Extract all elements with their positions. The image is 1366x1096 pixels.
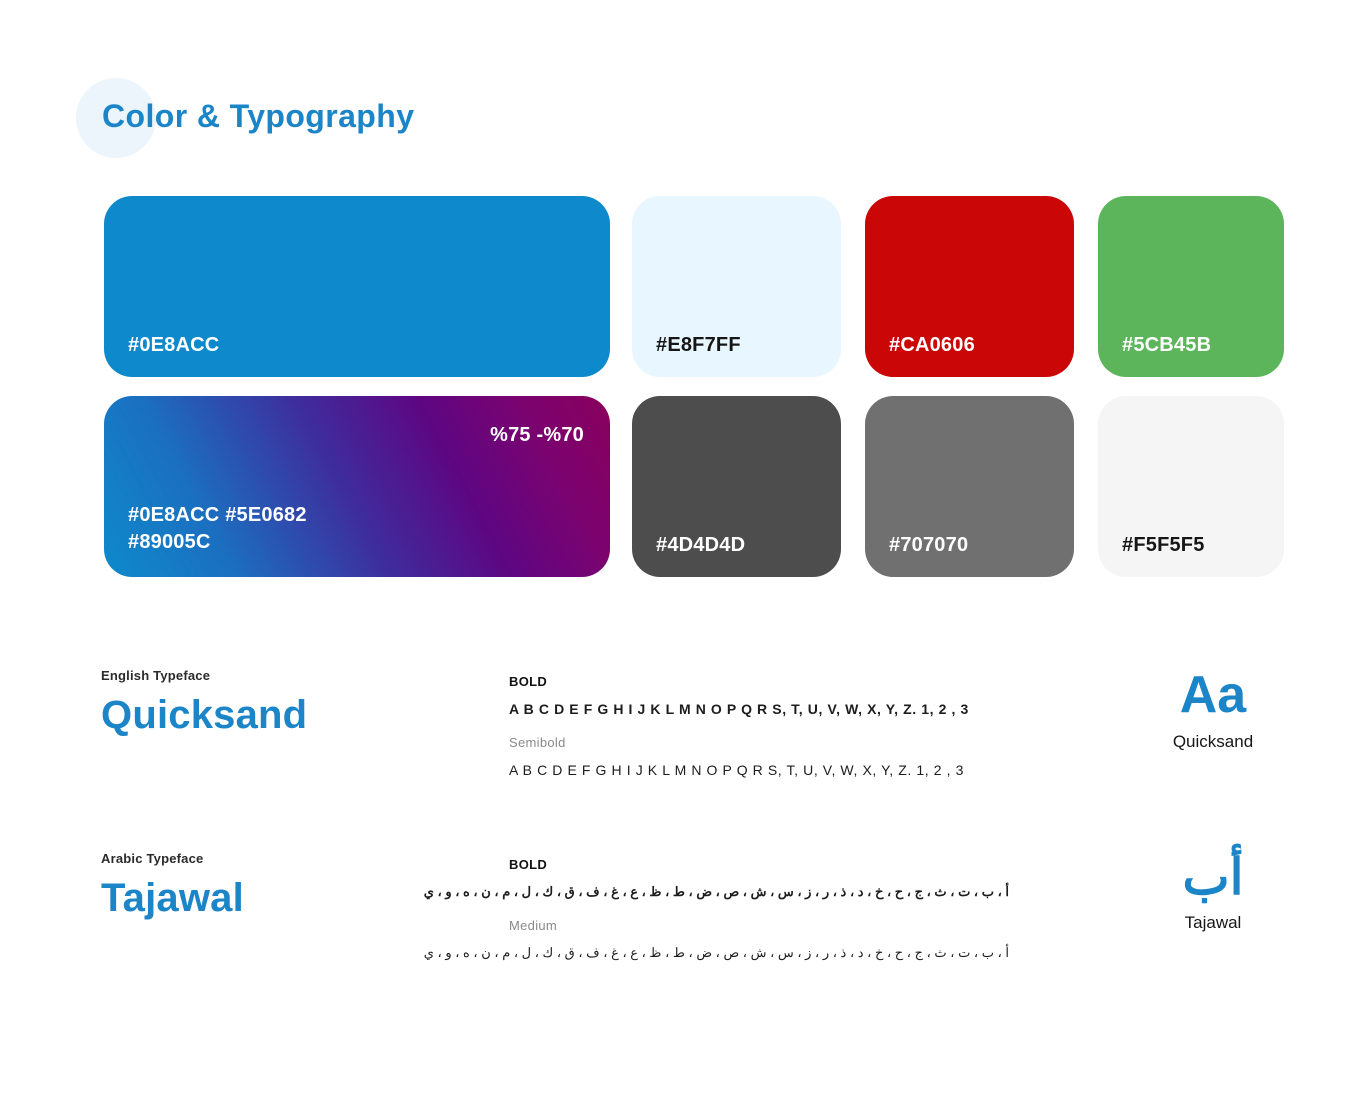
typeface-specimen-arabic: BOLD أ ، ب ، ت ، ث ، ج ، ح ، خ ، د ، ذ ،… — [509, 857, 1069, 979]
weight-label-medium-arabic: Medium — [509, 918, 1069, 933]
page-header: Color & Typography — [76, 78, 676, 164]
gradient-percent-label: %75 -%70 — [490, 424, 584, 447]
typeface-sample-glyph-english: Aa — [1160, 668, 1266, 723]
color-swatch-label: #E8F7FF — [656, 334, 741, 357]
color-swatch-label: #5CB45B — [1122, 334, 1211, 357]
weight-label-bold-english: BOLD — [509, 674, 1069, 689]
glyph-line-semibold-english: A B C D E F G H I J K L M N O P Q R S, T… — [509, 762, 1069, 778]
page-title: Color & Typography — [102, 98, 414, 135]
color-swatch-pale-blue[interactable]: #E8F7FF — [632, 196, 841, 377]
color-swatch-light-gray[interactable]: #F5F5F5 — [1098, 396, 1284, 577]
color-swatch-primary-blue[interactable]: #0E8ACC — [104, 196, 610, 377]
color-palette: #0E8ACC #E8F7FF #CA0606 #5CB45B %75 -%70… — [104, 196, 1284, 596]
typeface-name-english: Quicksand — [101, 693, 481, 737]
palette-row-primary: #0E8ACC #E8F7FF #CA0606 #5CB45B — [104, 196, 1284, 377]
glyph-line-medium-arabic: أ ، ب ، ت ، ث ، ج ، ح ، خ ، د ، ذ ، ر ، … — [509, 945, 1009, 961]
glyph-line-bold-english: A B C D E F G H I J K L M N O P Q R S, T… — [509, 701, 1069, 717]
weight-label-semibold-english: Semibold — [509, 735, 1069, 750]
palette-row-secondary: %75 -%70 #0E8ACC #5E0682 #89005C #4D4D4D… — [104, 396, 1284, 577]
color-swatch-label: #CA0606 — [889, 334, 975, 357]
color-swatch-label: #0E8ACC #5E0682 #89005C — [128, 502, 307, 557]
typeface-kicker-arabic: Arabic Typeface — [101, 851, 481, 866]
color-swatch-label: #4D4D4D — [656, 534, 745, 557]
typeface-name-column-english: English Typeface Quicksand — [101, 668, 481, 737]
color-swatch-alert-red[interactable]: #CA0606 — [865, 196, 1074, 377]
color-swatch-label: #707070 — [889, 534, 968, 557]
typeface-sample-column-english: Aa Quicksand — [1160, 668, 1266, 754]
typeface-sample-caption-english: Quicksand — [1160, 731, 1266, 754]
typeface-sample-caption-arabic: Tajawal — [1160, 912, 1266, 935]
weight-label-bold-arabic: BOLD — [509, 857, 1069, 872]
color-swatch-label: #0E8ACC — [128, 334, 219, 357]
color-swatch-success-green[interactable]: #5CB45B — [1098, 196, 1284, 377]
color-swatch-dark-gray[interactable]: #4D4D4D — [632, 396, 841, 577]
color-swatch-mid-gray[interactable]: #707070 — [865, 396, 1074, 577]
color-swatch-brand-gradient[interactable]: %75 -%70 #0E8ACC #5E0682 #89005C — [104, 396, 610, 577]
typeface-kicker-english: English Typeface — [101, 668, 481, 683]
typeface-sample-column-arabic: أب Tajawal — [1160, 851, 1266, 934]
color-swatch-label: #F5F5F5 — [1122, 534, 1205, 557]
glyph-line-bold-arabic: أ ، ب ، ت ، ث ، ج ، ح ، خ ، د ، ذ ، ر ، … — [509, 884, 1009, 900]
typeface-sample-glyph-arabic: أب — [1160, 851, 1266, 904]
typeface-specimen-english: BOLD A B C D E F G H I J K L M N O P Q R… — [509, 674, 1069, 796]
